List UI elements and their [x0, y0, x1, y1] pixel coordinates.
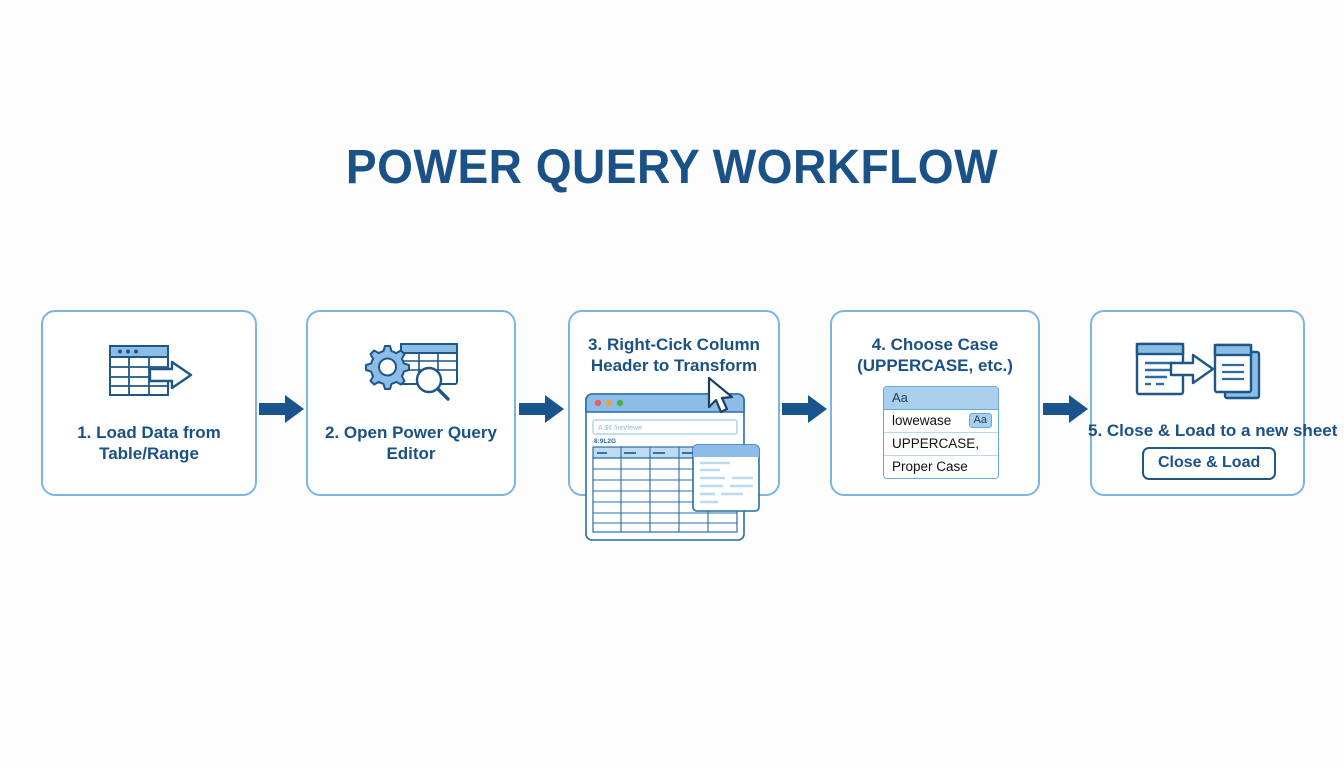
- step-card-3-label: 3. Right-Cick Column Header to Transform: [564, 334, 784, 376]
- step-card-2[interactable]: 2. Open Power Query Editor: [306, 310, 516, 496]
- case-option-lowercase[interactable]: lowewase Aa: [884, 410, 998, 433]
- case-option-proper-case-label: Proper Case: [892, 459, 968, 474]
- close-and-load-button[interactable]: Close & Load: [1142, 447, 1276, 480]
- case-option-uppercase-label: UPPERCASE,: [892, 436, 979, 451]
- case-option-uppercase[interactable]: UPPERCASE,: [884, 433, 998, 456]
- case-dropdown-menu[interactable]: Aa lowewase Aa UPPERCASE, Proper Case: [883, 386, 999, 479]
- case-option-lowercase-label: lowewase: [892, 413, 951, 428]
- document-arrow-documents-icon: [1092, 340, 1303, 402]
- step-card-2-label: 2. Open Power Query Editor: [302, 422, 520, 464]
- mouse-cursor-icon: [705, 376, 739, 418]
- step-card-4-label: 4. Choose Case (UPPERCASE, etc.): [826, 334, 1044, 376]
- connector-arrow-3: [782, 394, 828, 424]
- case-dropdown-header: Aa: [884, 387, 998, 410]
- step-card-1[interactable]: 1. Load Data from Table/Range: [41, 310, 257, 496]
- table-grid-arrow-icon: [43, 340, 255, 402]
- case-option-lowercase-badge: Aa: [969, 413, 992, 428]
- step-card-1-label: 1. Load Data from Table/Range: [37, 422, 261, 464]
- svg-text:A $¢ /irevfewe: A $¢ /irevfewe: [598, 425, 642, 432]
- page-title: POWER QUERY WORKFLOW: [27, 140, 1317, 195]
- gear-document-magnifier-icon: [308, 340, 514, 402]
- connector-arrow-2: [519, 394, 565, 424]
- connector-arrow-4: [1043, 394, 1089, 424]
- svg-text:8:9L2G: 8:9L2G: [594, 438, 616, 445]
- connector-arrow-1: [259, 394, 305, 424]
- step-card-5-label: 5. Close & Load to a new sheet: [1088, 420, 1344, 441]
- case-option-proper-case[interactable]: Proper Case: [884, 456, 998, 478]
